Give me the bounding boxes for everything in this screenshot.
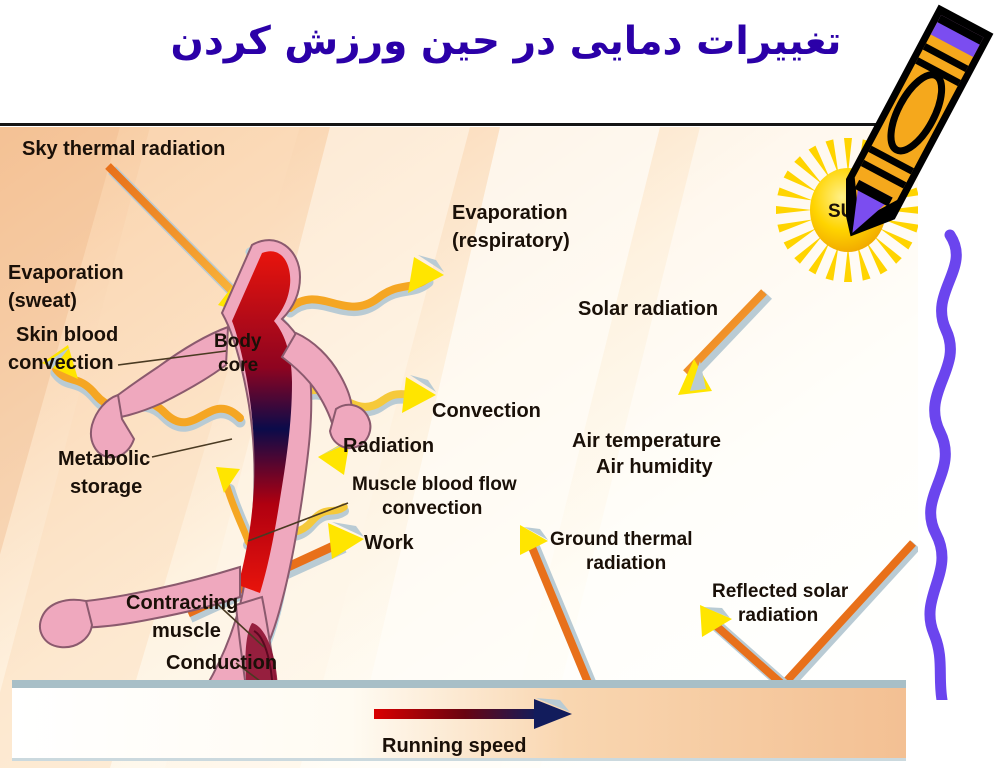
label-solar-radiation: Solar radiation <box>578 298 718 320</box>
running-speed-label: Running speed <box>382 735 526 757</box>
label-evaporation-respiratory-line2: (respiratory) <box>452 230 570 252</box>
ground-band: Running speed <box>12 680 906 761</box>
label-work: Work <box>364 532 415 554</box>
label-muscle-blood-flow-line2: convection <box>382 498 482 519</box>
label-muscle-blood-flow-line1: Muscle blood flow <box>352 474 517 495</box>
label-sky-thermal-radiation: Sky thermal radiation <box>22 138 225 160</box>
title-area: تغییرات دمایی در حین ورزش کردن <box>0 0 1006 125</box>
label-evaporation-respiratory-line1: Evaporation <box>452 202 568 224</box>
label-skin-blood-convection-line2: convection <box>8 352 114 374</box>
label-reflected-solar-radiation-line2: radiation <box>738 605 818 626</box>
sun-graphic: SUN <box>776 138 918 282</box>
label-contracting-muscle-line2: muscle <box>152 620 221 642</box>
label-metabolic-storage-line2: storage <box>70 476 142 498</box>
label-ground-thermal-radiation-line2: radiation <box>586 553 666 574</box>
slide-canvas: تغییرات دمایی در حین ورزش کردن <box>0 0 1006 768</box>
sun-label: SUN <box>828 201 868 222</box>
label-reflected-solar-radiation-line1: Reflected solar <box>712 581 849 602</box>
label-conduction: Conduction <box>166 652 277 674</box>
crayon-stroke-squiggle <box>930 235 956 700</box>
page-title: تغییرات دمایی در حین ورزش کردن <box>156 18 856 67</box>
body-core-label-line1: Body <box>214 331 262 352</box>
label-ground-thermal-radiation-line1: Ground thermal <box>550 529 693 550</box>
label-contracting-muscle-line1: Contracting <box>126 592 238 614</box>
label-radiation: Radiation <box>343 435 434 457</box>
label-evaporation-sweat-line1: Evaporation <box>8 262 124 284</box>
body-core-label-line2: core <box>218 355 258 376</box>
label-evaporation-sweat-line2: (sweat) <box>8 290 77 312</box>
label-air-temperature: Air temperature <box>572 430 721 452</box>
label-convection: Convection <box>432 400 541 422</box>
label-metabolic-storage-line1: Metabolic <box>58 448 150 470</box>
label-skin-blood-convection-line1: Skin blood <box>16 324 118 346</box>
label-air-humidity: Air humidity <box>596 456 714 478</box>
thermal-exchange-diagram: SUN <box>0 127 918 768</box>
title-divider-rule <box>0 123 912 126</box>
